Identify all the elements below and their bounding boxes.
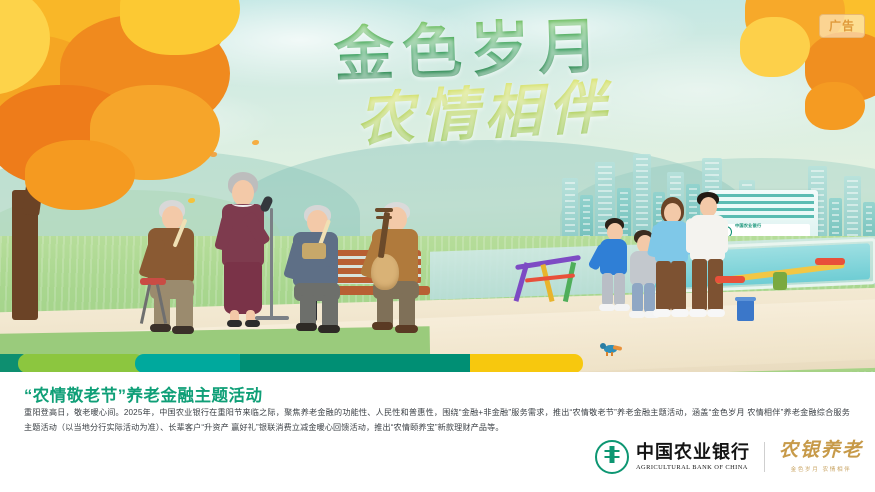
microphone-base [255, 316, 289, 320]
bar-segment-yellow [470, 354, 583, 372]
elderly-flute-player-bench [288, 205, 354, 335]
seesaw [715, 262, 845, 292]
bar-segment-dark-green [240, 354, 483, 372]
microphone-stand [270, 208, 273, 320]
footer-logos: 中国农业银行 AGRICULTURAL BANK OF CHINA 农银养老 金… [595, 440, 863, 474]
bank-name-cn: 中国农业银行 [636, 443, 750, 463]
pension-brand-logo[interactable]: 农银养老 金色岁月 农情相伴 [779, 441, 863, 473]
hero-title: 金色岁月 农情相伴 [305, 20, 635, 170]
pension-brand-name: 农银养老 [779, 441, 863, 462]
playground-climber [515, 252, 593, 304]
adult-man [686, 192, 730, 324]
ad-badge[interactable]: 广告 [819, 14, 865, 38]
abc-emblem-icon [595, 440, 629, 474]
bar-segment-green [18, 354, 144, 372]
content-section: “农情敬老节”养老金融主题活动 重阳登高日，敬老暖心间。2025年，中国农业银行… [0, 372, 875, 492]
logo-divider [764, 442, 765, 472]
advertisement-banner-page: 中国农业银行 AGRICULTURAL BANK OF CHINA [0, 0, 875, 492]
building-sign-name: 中国农业银行 [735, 223, 761, 228]
bank-name-en: AGRICULTURAL BANK OF CHINA [636, 464, 750, 471]
elderly-flute-player-left [142, 200, 212, 335]
bar-segment-teal [135, 354, 247, 372]
description-paragraph: 重阳登高日，敬老暖心间。2025年，中国农业银行在重阳节来临之际，聚焦养老金融的… [24, 405, 850, 435]
hero-illustration: 中国农业银行 AGRICULTURAL BANK OF CHINA [0, 0, 875, 372]
pension-brand-slogan: 金色岁月 农情相伴 [779, 465, 863, 473]
trash-bin [737, 300, 754, 321]
color-divider-bar [0, 354, 875, 372]
elderly-pipa-player [365, 202, 435, 337]
title-line-2: 农情相伴 [318, 76, 651, 154]
abc-bank-logo[interactable]: 中国农业银行 AGRICULTURAL BANK OF CHINA [595, 440, 750, 474]
page-title: “农情敬老节”养老金融主题活动 [24, 382, 263, 406]
